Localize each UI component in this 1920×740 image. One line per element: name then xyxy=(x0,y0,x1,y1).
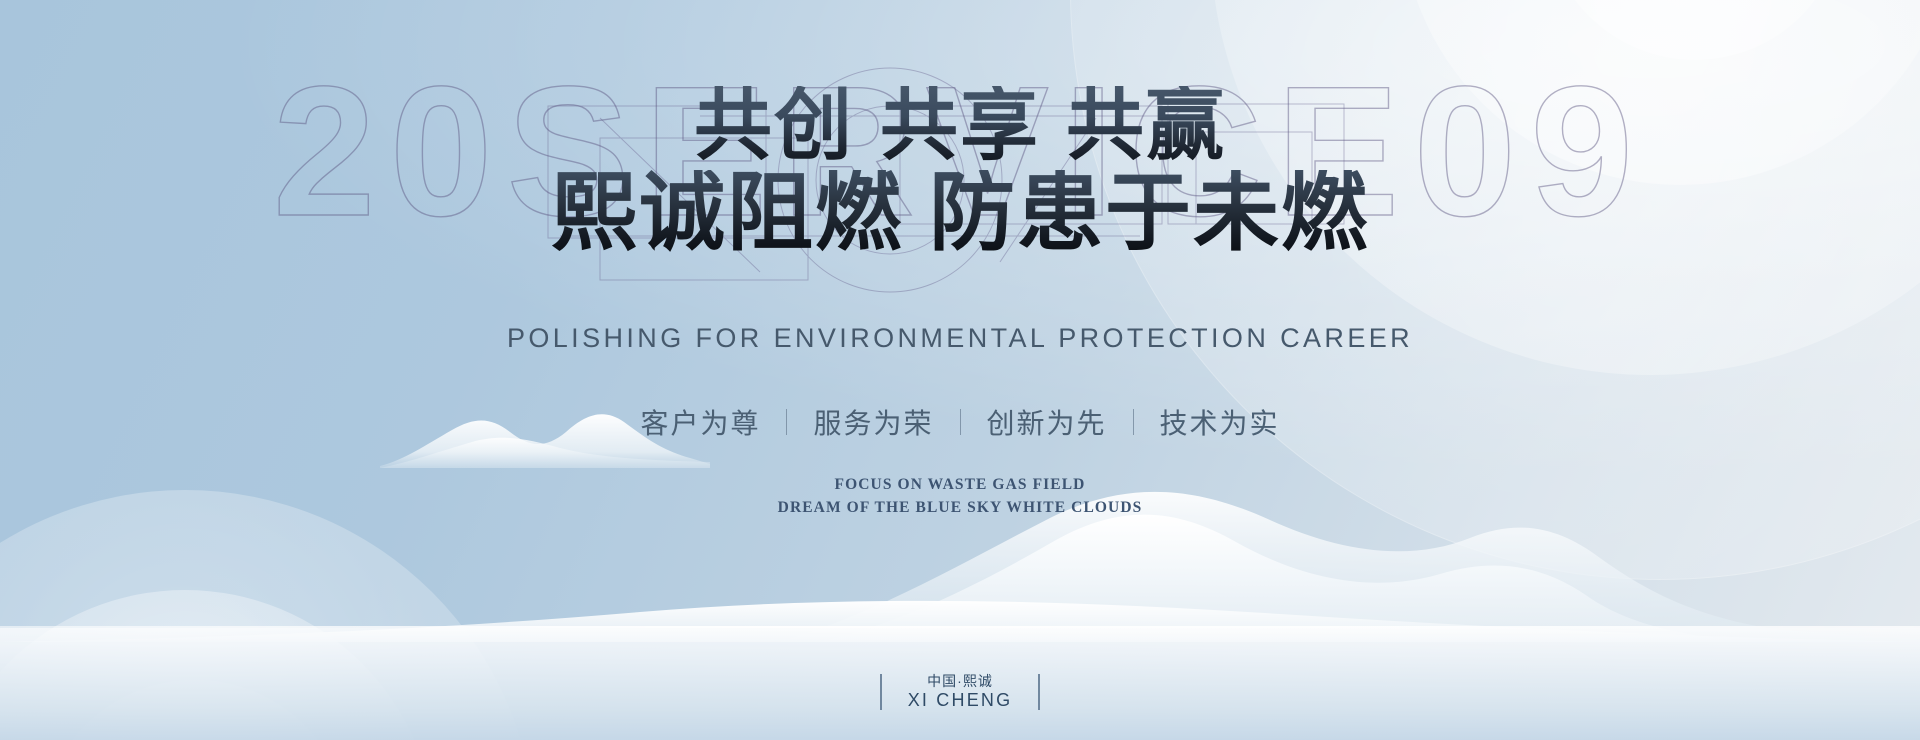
headline-line-1: 共创共享共赢 xyxy=(694,86,1226,166)
value-item-4: 技术为实 xyxy=(1134,402,1306,442)
headline2-word-1: 熙诚阻燃 xyxy=(551,165,903,261)
headline-word-2: 共享 xyxy=(880,82,1040,169)
brand-logo: 中国·熙诚 XI CHENG xyxy=(0,673,1920,712)
logo-bar-left xyxy=(880,674,882,710)
value-divider-3 xyxy=(1133,409,1134,435)
headline-word-3: 共赢 xyxy=(1066,82,1226,169)
value-item-3: 创新为先 xyxy=(961,402,1133,442)
serif-tagline-line-1: FOCUS ON WASTE GAS FIELD xyxy=(778,474,1143,496)
logo-bar-right xyxy=(1038,674,1040,710)
serif-tagline-block: FOCUS ON WASTE GAS FIELD DREAM OF THE BL… xyxy=(778,474,1143,519)
value-divider-2 xyxy=(960,409,961,435)
banner-stage: 20SERVICE09 xyxy=(0,0,1920,740)
value-list: 客户为尊 服务为荣 创新为先 技术为实 xyxy=(614,402,1305,442)
logo-name-cn: 中国·熙诚 xyxy=(908,673,1013,690)
headline2-word-2: 防患于未燃 xyxy=(929,165,1369,261)
value-divider-1 xyxy=(786,409,787,435)
banner-content: 共创共享共赢 熙诚阻燃防患于未燃 POLISHING FOR ENVIRONME… xyxy=(0,0,1920,740)
logo-text-group: 中国·熙诚 XI CHENG xyxy=(882,673,1039,712)
headline-line-2: 熙诚阻燃防患于未燃 xyxy=(551,170,1369,258)
value-item-1: 客户为尊 xyxy=(614,402,786,442)
logo-name-en: XI CHENG xyxy=(908,690,1013,712)
serif-tagline-line-2: DREAM OF THE BLUE SKY WHITE CLOUDS xyxy=(778,497,1143,519)
subtitle-english: POLISHING FOR ENVIRONMENTAL PROTECTION C… xyxy=(507,323,1413,354)
headline-word-1: 共创 xyxy=(694,82,854,169)
value-item-2: 服务为荣 xyxy=(787,402,959,442)
